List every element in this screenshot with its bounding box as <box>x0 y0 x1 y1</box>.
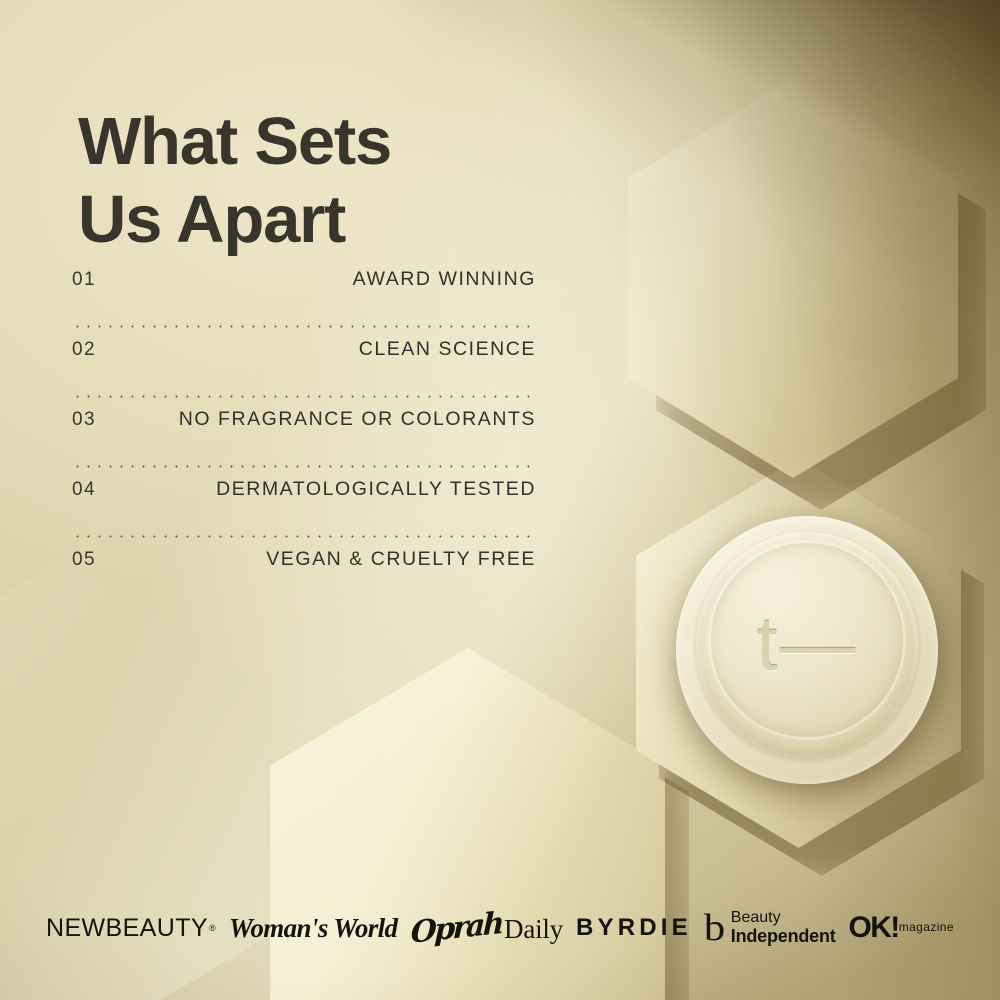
feature-separator <box>72 524 536 548</box>
press-logo-byrdie: BYRDIE <box>576 914 692 942</box>
feature-label: NO FRAGRANCE OR COLORANTS <box>179 408 536 431</box>
feature-row: 04DERMATOLOGICALLY TESTED <box>72 478 536 524</box>
feature-separator <box>72 454 536 478</box>
press-logo-oprah-daily: OprahDaily <box>410 911 563 946</box>
page-title: What Sets Us Apart <box>78 103 391 258</box>
feature-row: 01AWARD WINNING <box>72 268 536 314</box>
feature-separator <box>72 314 536 338</box>
feature-list: 01AWARD WINNING02CLEAN SCIENCE03NO FRAGR… <box>72 268 536 594</box>
registered-trademark-icon: ® <box>209 923 216 933</box>
press-logo-text: OK! <box>849 913 899 943</box>
feature-row: 05VEGAN & CRUELTY FREE <box>72 548 536 594</box>
press-logo-womans-world: Woman's World <box>229 913 398 944</box>
feature-separator <box>72 384 536 408</box>
feature-row: 03NO FRAGRANCE OR COLORANTS <box>72 408 536 454</box>
press-logo-text: NEWBEAUTY <box>46 914 208 943</box>
feature-row: 02CLEAN SCIENCE <box>72 338 536 384</box>
press-logo-line-1: Beauty <box>731 910 836 927</box>
press-logo-newbeauty: NEWBEAUTY® <box>46 914 216 943</box>
press-logo-beauty-independent: bBeautyIndependent <box>705 910 836 945</box>
feature-number: 03 <box>72 409 96 431</box>
press-logo-ok-magazine: OK!magazine <box>849 913 954 943</box>
feature-number: 02 <box>72 339 96 361</box>
press-logo-text: Daily <box>504 914 563 945</box>
oprah-script-wordmark: Oprah <box>411 905 503 950</box>
feature-number: 01 <box>72 269 96 291</box>
feature-number: 05 <box>72 549 96 571</box>
feature-label: DERMATOLOGICALLY TESTED <box>216 478 536 501</box>
press-logo-subtext: magazine <box>899 921 954 933</box>
promo-graphic: t— What Sets Us Apart 01AWARD WINNING02C… <box>0 0 1000 1000</box>
feature-label: AWARD WINNING <box>353 268 536 291</box>
press-logo-line-2: Independent <box>731 927 836 946</box>
feature-label: VEGAN & CRUELTY FREE <box>266 548 536 571</box>
press-logo-text: BeautyIndependent <box>731 910 836 945</box>
press-logo-strip: NEWBEAUTY®Woman's WorldOprahDailyBYRDIEb… <box>0 893 1000 963</box>
feature-label: CLEAN SCIENCE <box>359 338 536 361</box>
feature-number: 04 <box>72 479 96 501</box>
beauty-independent-b-mark-icon: b <box>704 913 725 943</box>
